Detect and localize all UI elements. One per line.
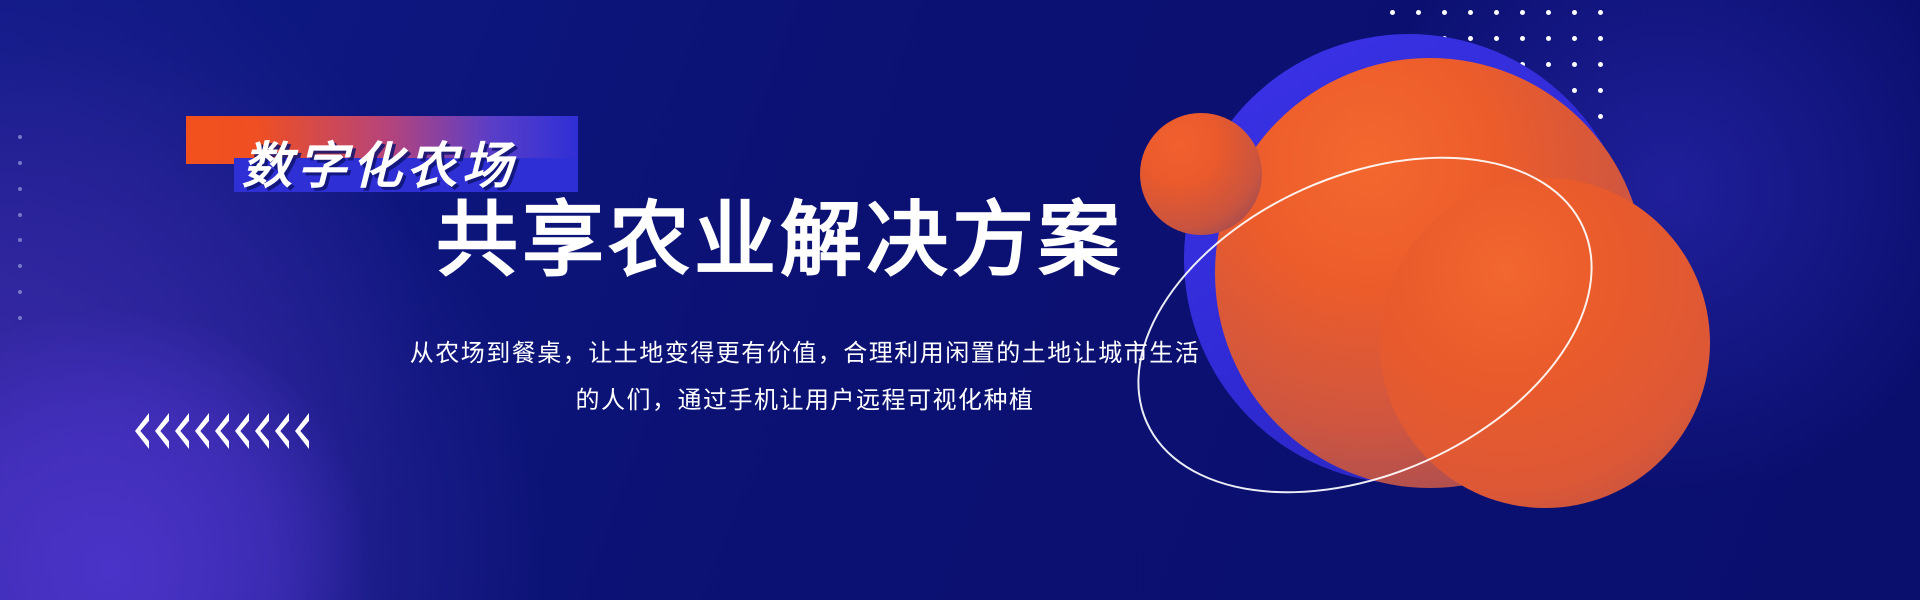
grid-dot bbox=[1572, 88, 1577, 93]
grid-dot bbox=[1468, 10, 1473, 15]
dot-marker bbox=[18, 187, 22, 191]
grid-dot bbox=[1494, 36, 1499, 41]
left-dotted-rule bbox=[18, 135, 22, 320]
grid-dot bbox=[1390, 10, 1395, 15]
grid-dot bbox=[1546, 36, 1551, 41]
subtitle-line-2: 的人们，通过手机让用户远程可视化种植 bbox=[360, 377, 1250, 424]
grid-dot bbox=[1572, 36, 1577, 41]
grid-dot bbox=[1572, 10, 1577, 15]
grid-dot bbox=[1442, 10, 1447, 15]
badge-label: 数字化农场 bbox=[242, 126, 517, 198]
grid-dot bbox=[1468, 36, 1473, 41]
grid-dot bbox=[1546, 62, 1551, 67]
chevron-left-icon bbox=[215, 413, 229, 449]
grid-dot bbox=[1494, 10, 1499, 15]
dot-marker bbox=[18, 213, 22, 217]
dot-marker bbox=[18, 135, 22, 139]
chevron-left-icon bbox=[135, 413, 149, 449]
small-orange-sphere bbox=[1140, 113, 1262, 235]
dot-marker bbox=[18, 290, 22, 294]
grid-dot bbox=[1416, 10, 1421, 15]
page-title: 共享农业解决方案 bbox=[436, 198, 1124, 284]
subtitle: 从农场到餐桌，让土地变得更有价值，合理利用闲置的土地让城市生活 的人们，通过手机… bbox=[360, 330, 1250, 424]
grid-dot bbox=[1520, 36, 1525, 41]
dot-marker bbox=[18, 316, 22, 320]
chevron-left-icon bbox=[275, 413, 289, 449]
chevron-left-icon bbox=[195, 413, 209, 449]
grid-dot bbox=[1572, 62, 1577, 67]
grid-dot bbox=[1598, 36, 1603, 41]
grid-dot bbox=[1598, 114, 1603, 119]
dot-marker bbox=[18, 161, 22, 165]
grid-dot bbox=[1520, 10, 1525, 15]
dot-marker bbox=[18, 238, 22, 242]
dot-marker bbox=[18, 264, 22, 268]
grid-dot bbox=[1598, 10, 1603, 15]
grid-dot bbox=[1598, 62, 1603, 67]
grid-dot bbox=[1598, 88, 1603, 93]
chevron-left-icon bbox=[295, 413, 309, 449]
chevron-left-icons bbox=[135, 413, 309, 449]
chevron-left-icon bbox=[175, 413, 189, 449]
subtitle-line-1: 从农场到餐桌，让土地变得更有价值，合理利用闲置的土地让城市生活 bbox=[360, 330, 1250, 377]
chevron-left-icon bbox=[255, 413, 269, 449]
promo-banner: 数字化农场 共享农业解决方案 从农场到餐桌，让土地变得更有价值，合理利用闲置的土… bbox=[0, 0, 1920, 600]
chevron-left-icon bbox=[155, 413, 169, 449]
chevron-left-icon bbox=[235, 413, 249, 449]
grid-dot bbox=[1546, 10, 1551, 15]
